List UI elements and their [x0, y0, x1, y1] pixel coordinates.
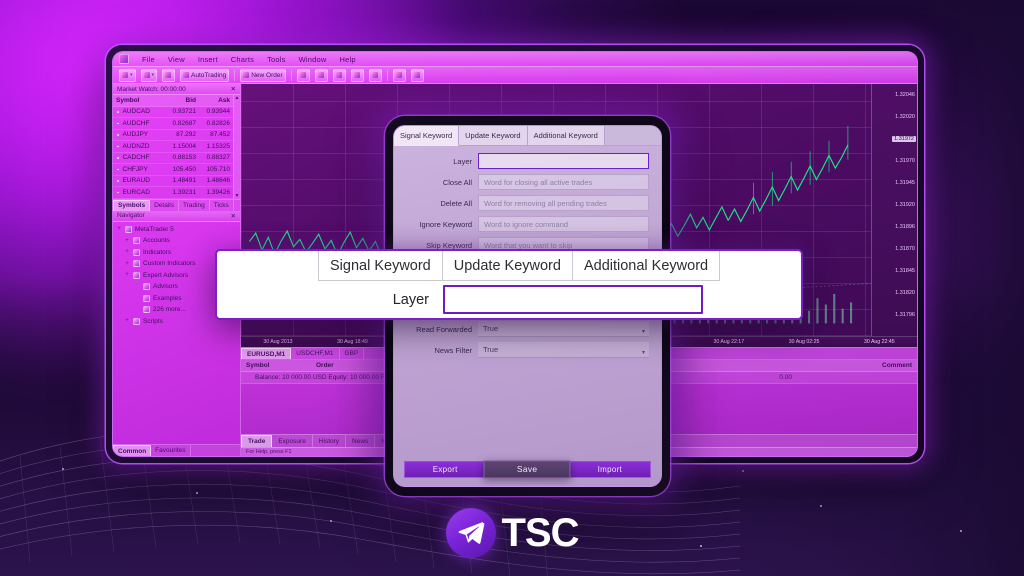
ask-cell: 0.82826 — [196, 120, 230, 127]
market-watch-row[interactable]: AUDJPY87.29287.452 — [113, 130, 233, 142]
chart-tab-eurusd-m1[interactable]: EURUSD,M1 — [241, 348, 291, 359]
select-news-filter[interactable]: True▾ — [478, 342, 649, 358]
symbol-dot-icon — [116, 179, 120, 183]
navigator-item-label: Expert Advisors — [143, 272, 188, 279]
folder-icon — [133, 318, 140, 325]
folder-icon — [143, 306, 150, 313]
market-watch-tab-symbols[interactable]: Symbols — [113, 200, 150, 211]
symbol-dot-icon — [116, 145, 120, 149]
market-watch-row[interactable]: CADCHF0.881530.88327 — [113, 153, 233, 165]
logo-wordmark: TSC — [502, 513, 579, 553]
magnified-tab-update-keyword[interactable]: Update Keyword — [443, 251, 573, 281]
symbol-name: EURCAD — [123, 189, 150, 196]
time-tick: 30 Aug 02:25 — [789, 339, 820, 345]
select-read-forwarded[interactable]: True▾ — [478, 321, 649, 337]
folder-icon — [143, 283, 150, 290]
tablet-tab-additional-keyword[interactable]: Additional Keyword — [528, 126, 605, 146]
symbol-cell: EURCAD — [116, 189, 162, 196]
symbol-name: AUDCAD — [123, 108, 150, 115]
bid-cell: 0.82687 — [162, 120, 196, 127]
magnified-callout: Signal KeywordUpdate KeywordAdditional K… — [215, 249, 803, 320]
price-tick: 1.31896 — [895, 224, 915, 230]
field-row-delete-all: Delete AllWord for removing all pending … — [400, 195, 649, 211]
symbol-name: CADCHF — [123, 154, 150, 161]
market-watch-tab-trading[interactable]: Trading — [179, 200, 210, 211]
expand-icon[interactable]: + — [116, 226, 122, 232]
symbol-dot-icon — [116, 122, 120, 126]
magnified-tabs: Signal KeywordUpdate KeywordAdditional K… — [318, 251, 720, 281]
navigator-title-bar: Navigator ✕ — [113, 211, 240, 222]
navigator-item-accounts[interactable]: +Accounts — [116, 235, 240, 247]
price-tick: 1.31820 — [895, 290, 915, 296]
magnified-layer-row: Layer — [217, 285, 801, 314]
symbol-cell: CADCHF — [116, 154, 162, 161]
candle-chart-icon[interactable] — [315, 69, 328, 82]
navigator-title: Navigator — [117, 212, 145, 219]
time-tick: 30 Aug 18:49 — [337, 339, 368, 345]
magnified-layer-input[interactable] — [443, 285, 703, 314]
ask-cell: 87.452 — [196, 131, 230, 138]
profiles-button[interactable]: ▾ — [141, 69, 158, 82]
tablet-tab-update-keyword[interactable]: Update Keyword — [459, 126, 527, 146]
ask-cell: 0.88327 — [196, 154, 230, 161]
current-price-label: 1.31972 — [892, 136, 916, 142]
new-chart-button[interactable]: ▾ — [119, 69, 136, 82]
navigator-item-label: Scripts — [143, 318, 163, 325]
autotrading-label: AutoTrading — [191, 72, 226, 79]
menu-item-view[interactable]: View — [168, 55, 185, 64]
field-row-ignore-keyword: Ignore KeywordWord to ignore command — [400, 216, 649, 232]
bid-cell: 1.15004 — [162, 143, 196, 150]
market-watch-row[interactable]: AUDNZD1.150041.15325 — [113, 141, 233, 153]
field-label: Ignore Keyword — [400, 220, 472, 229]
symbol-dot-icon — [116, 168, 120, 172]
bid-cell: 87.292 — [162, 131, 196, 138]
symbol-dot-icon — [116, 191, 120, 195]
market-watch-rows: AUDCAD0.937210.93944AUDCHF0.826870.82826… — [113, 107, 233, 199]
folder-icon — [133, 260, 140, 267]
field-row-news-filter: News FilterTrue▾ — [400, 342, 649, 358]
price-tick: 1.31796 — [895, 312, 915, 318]
navigator-item-label: 226 more... — [153, 306, 186, 313]
ask-cell: 1.48646 — [196, 177, 230, 184]
symbol-name: AUDJPY — [123, 131, 149, 138]
terminal-tab-history[interactable]: History — [313, 435, 346, 447]
price-tick: 1.31970 — [895, 158, 915, 164]
menu-item-tools[interactable]: Tools — [267, 55, 286, 64]
market-watch-row[interactable]: AUDCHF0.826870.82826 — [113, 118, 233, 130]
market-watch-button[interactable] — [162, 69, 175, 82]
menu-item-window[interactable]: Window — [299, 55, 327, 64]
zoom-in-icon[interactable] — [351, 69, 364, 82]
line-chart-icon[interactable] — [333, 69, 346, 82]
close-icon[interactable]: ✕ — [231, 85, 236, 93]
chevron-down-icon[interactable]: ▾ — [642, 349, 645, 356]
folder-icon — [143, 295, 150, 302]
tab-strip-filler — [605, 126, 661, 146]
chart-icon — [122, 72, 128, 78]
folder-icon — [133, 237, 140, 244]
symbol-dot-icon — [116, 156, 120, 160]
menu-item-help[interactable]: Help — [339, 55, 355, 64]
navigator-item-label: Advisors — [153, 283, 178, 290]
market-watch-title-bar: Market Watch: 00:00:00 ✕ — [113, 84, 240, 95]
bid-cell: 105.450 — [162, 166, 196, 173]
magnified-tab-additional-keyword[interactable]: Additional Keyword — [573, 251, 720, 281]
folder-icon — [125, 226, 132, 233]
star-dot — [62, 468, 64, 470]
expand-icon[interactable]: + — [124, 261, 130, 267]
toolbar-divider — [234, 70, 235, 81]
zoom-out-icon[interactable] — [369, 69, 382, 82]
keyword-tabs: Signal KeywordUpdate KeywordAdditional K… — [394, 126, 661, 146]
close-icon[interactable]: ✕ — [231, 212, 236, 220]
navigator-item-label: Examples — [153, 295, 182, 302]
tool-bar: ▾ ▾ AutoTrading New Order — [113, 67, 917, 84]
symbol-name: CHFJPY — [123, 166, 148, 173]
chevron-down-icon[interactable]: ▾ — [642, 328, 645, 335]
symbol-cell: EURAUD — [116, 177, 162, 184]
column-bid: Bid — [162, 97, 196, 104]
input-close-all[interactable]: Word for closing all active trades — [478, 174, 649, 190]
column-symbol: Symbol — [246, 362, 316, 369]
symbol-cell: AUDCHF — [116, 120, 162, 127]
field-label: Delete All — [400, 199, 472, 208]
field-row-close-all: Close AllWord for closing all active tra… — [400, 174, 649, 190]
input-layer[interactable] — [478, 153, 649, 169]
market-watch-header: Symbol Bid Ask — [113, 95, 233, 107]
market-watch-scrollbar[interactable]: ▲▼ — [233, 95, 240, 199]
toolbar-divider — [291, 70, 292, 81]
expand-icon[interactable]: + — [124, 238, 130, 244]
market-watch-row[interactable]: EURAUD1.484911.48646 — [113, 176, 233, 188]
navigator-item-label: Custom Indicators — [143, 260, 195, 267]
navigator-tab-favourites[interactable]: Favourites — [151, 445, 190, 456]
folder-icon — [133, 272, 140, 279]
star-dot — [196, 492, 198, 494]
export-button[interactable]: Export — [404, 461, 486, 478]
field-label: News Filter — [400, 346, 472, 355]
folder-icon — [133, 249, 140, 256]
import-button[interactable]: Import — [569, 461, 651, 478]
time-tick: 30 Aug 2013 — [263, 339, 292, 345]
chart-shift-icon[interactable] — [411, 69, 424, 82]
menu-item-charts[interactable]: Charts — [231, 55, 254, 64]
magnified-layer-label: Layer — [217, 292, 443, 308]
ask-cell: 105.710 — [196, 166, 230, 173]
price-tick: 1.32046 — [895, 92, 915, 98]
input-delete-all[interactable]: Word for removing all pending trades — [478, 195, 649, 211]
menu-item-file[interactable]: File — [142, 55, 155, 64]
dialog-action-bar: ExportSaveImport — [394, 458, 661, 486]
field-label: Read Forwarded — [400, 325, 472, 334]
price-tick: 1.31920 — [895, 202, 915, 208]
chart-tab-usdchf-m1[interactable]: USDCHF,M1 — [291, 348, 339, 359]
symbol-dot-icon — [116, 110, 120, 114]
navigator-item-metatrader-5[interactable]: +MetaTrader 5 — [116, 224, 240, 236]
price-tick: 1.31945 — [895, 180, 915, 186]
magnified-tab-signal-keyword[interactable]: Signal Keyword — [318, 251, 443, 281]
terminal-tab-exposure[interactable]: Exposure — [272, 435, 312, 447]
autotrading-button[interactable]: AutoTrading — [180, 69, 229, 82]
navigator-item-label: MetaTrader 5 — [135, 226, 174, 233]
chart-tab-gbp[interactable]: GBP — [340, 348, 365, 359]
market-watch-icon — [165, 72, 171, 78]
column-ask: Ask — [196, 97, 230, 104]
time-tick: 30 Aug 22:17 — [714, 339, 745, 345]
market-watch-row[interactable]: CHFJPY105.450105.710 — [113, 164, 233, 176]
column-comment: Comment — [852, 362, 912, 369]
tsc-logo: TSC — [0, 504, 1024, 562]
price-axis[interactable]: 1.320461.320201.319961.319701.319451.319… — [871, 84, 917, 336]
field-row-read-forwarded: Read ForwardedTrue▾ — [400, 321, 649, 337]
save-button[interactable]: Save — [484, 460, 571, 478]
expand-icon[interactable]: + — [124, 318, 130, 324]
navigator-item-label: Indicators — [143, 249, 171, 256]
autoscroll-icon[interactable] — [393, 69, 406, 82]
profiles-icon — [144, 72, 150, 78]
new-order-icon — [243, 72, 249, 78]
time-tick: 30 Aug 22:45 — [864, 339, 895, 345]
field-row-layer: Layer — [400, 153, 649, 169]
symbol-cell: AUDCAD — [116, 108, 162, 115]
symbol-dot-icon — [116, 133, 120, 137]
input-ignore-keyword[interactable]: Word to ignore command — [478, 216, 649, 232]
ask-cell: 1.39426 — [196, 189, 230, 196]
navigator-tabs: CommonFavourites — [113, 444, 240, 456]
navigator-item-label: Accounts — [143, 237, 170, 244]
symbol-cell: CHFJPY — [116, 166, 162, 173]
menu-item-insert[interactable]: Insert — [198, 55, 218, 64]
navigator-tab-common[interactable]: Common — [113, 445, 151, 456]
app-logo-icon — [119, 54, 129, 64]
bid-cell: 1.48491 — [162, 177, 196, 184]
tablet-tab-signal-keyword[interactable]: Signal Keyword — [394, 126, 459, 146]
status-text: For Help, press F1 — [246, 449, 292, 455]
symbol-cell: AUDNZD — [116, 143, 162, 150]
price-tick: 1.32020 — [895, 114, 915, 120]
symbol-name: AUDNZD — [123, 143, 150, 150]
star-dot — [742, 470, 744, 472]
market-watch-title: Market Watch: 00:00:00 — [117, 86, 186, 93]
field-label: Layer — [400, 157, 472, 166]
telegram-plane-icon — [446, 508, 496, 558]
bid-cell: 0.93721 — [162, 108, 196, 115]
new-order-button[interactable]: New Order — [240, 69, 285, 82]
market-watch-tab-details[interactable]: Details — [150, 200, 179, 211]
profit-value: 0.00 — [779, 374, 792, 381]
toolbar-divider — [387, 70, 388, 81]
menu-bar: File View Insert Charts Tools Window Hel… — [113, 52, 917, 67]
autotrading-icon — [183, 72, 189, 78]
bar-chart-icon[interactable] — [297, 69, 310, 82]
scroll-up-icon[interactable]: ▲ — [235, 95, 240, 101]
column-symbol: Symbol — [116, 97, 162, 104]
bid-cell: 1.39231 — [162, 189, 196, 196]
market-watch-row[interactable]: AUDCAD0.937210.93944 — [113, 107, 233, 119]
terminal-tab-news[interactable]: News — [346, 435, 375, 447]
symbol-cell: AUDJPY — [116, 131, 162, 138]
ask-cell: 1.15325 — [196, 143, 230, 150]
expand-icon[interactable]: + — [124, 272, 130, 278]
market-watch-tabs: SymbolsDetailsTradingTicks — [113, 199, 240, 211]
market-watch-tab-ticks[interactable]: Ticks — [210, 200, 234, 211]
symbol-name: AUDCHF — [123, 120, 150, 127]
terminal-tab-trade[interactable]: Trade — [241, 435, 272, 447]
ask-cell: 0.93944 — [196, 108, 230, 115]
price-tick: 1.31845 — [895, 268, 915, 274]
field-label: Close All — [400, 178, 472, 187]
expand-icon[interactable]: + — [124, 249, 130, 255]
symbol-name: EURAUD — [123, 177, 150, 184]
bid-cell: 0.88153 — [162, 154, 196, 161]
market-watch-row[interactable]: EURCAD1.392311.39426 — [113, 187, 233, 199]
new-order-label: New Order — [251, 72, 282, 79]
price-tick: 1.31870 — [895, 246, 915, 252]
